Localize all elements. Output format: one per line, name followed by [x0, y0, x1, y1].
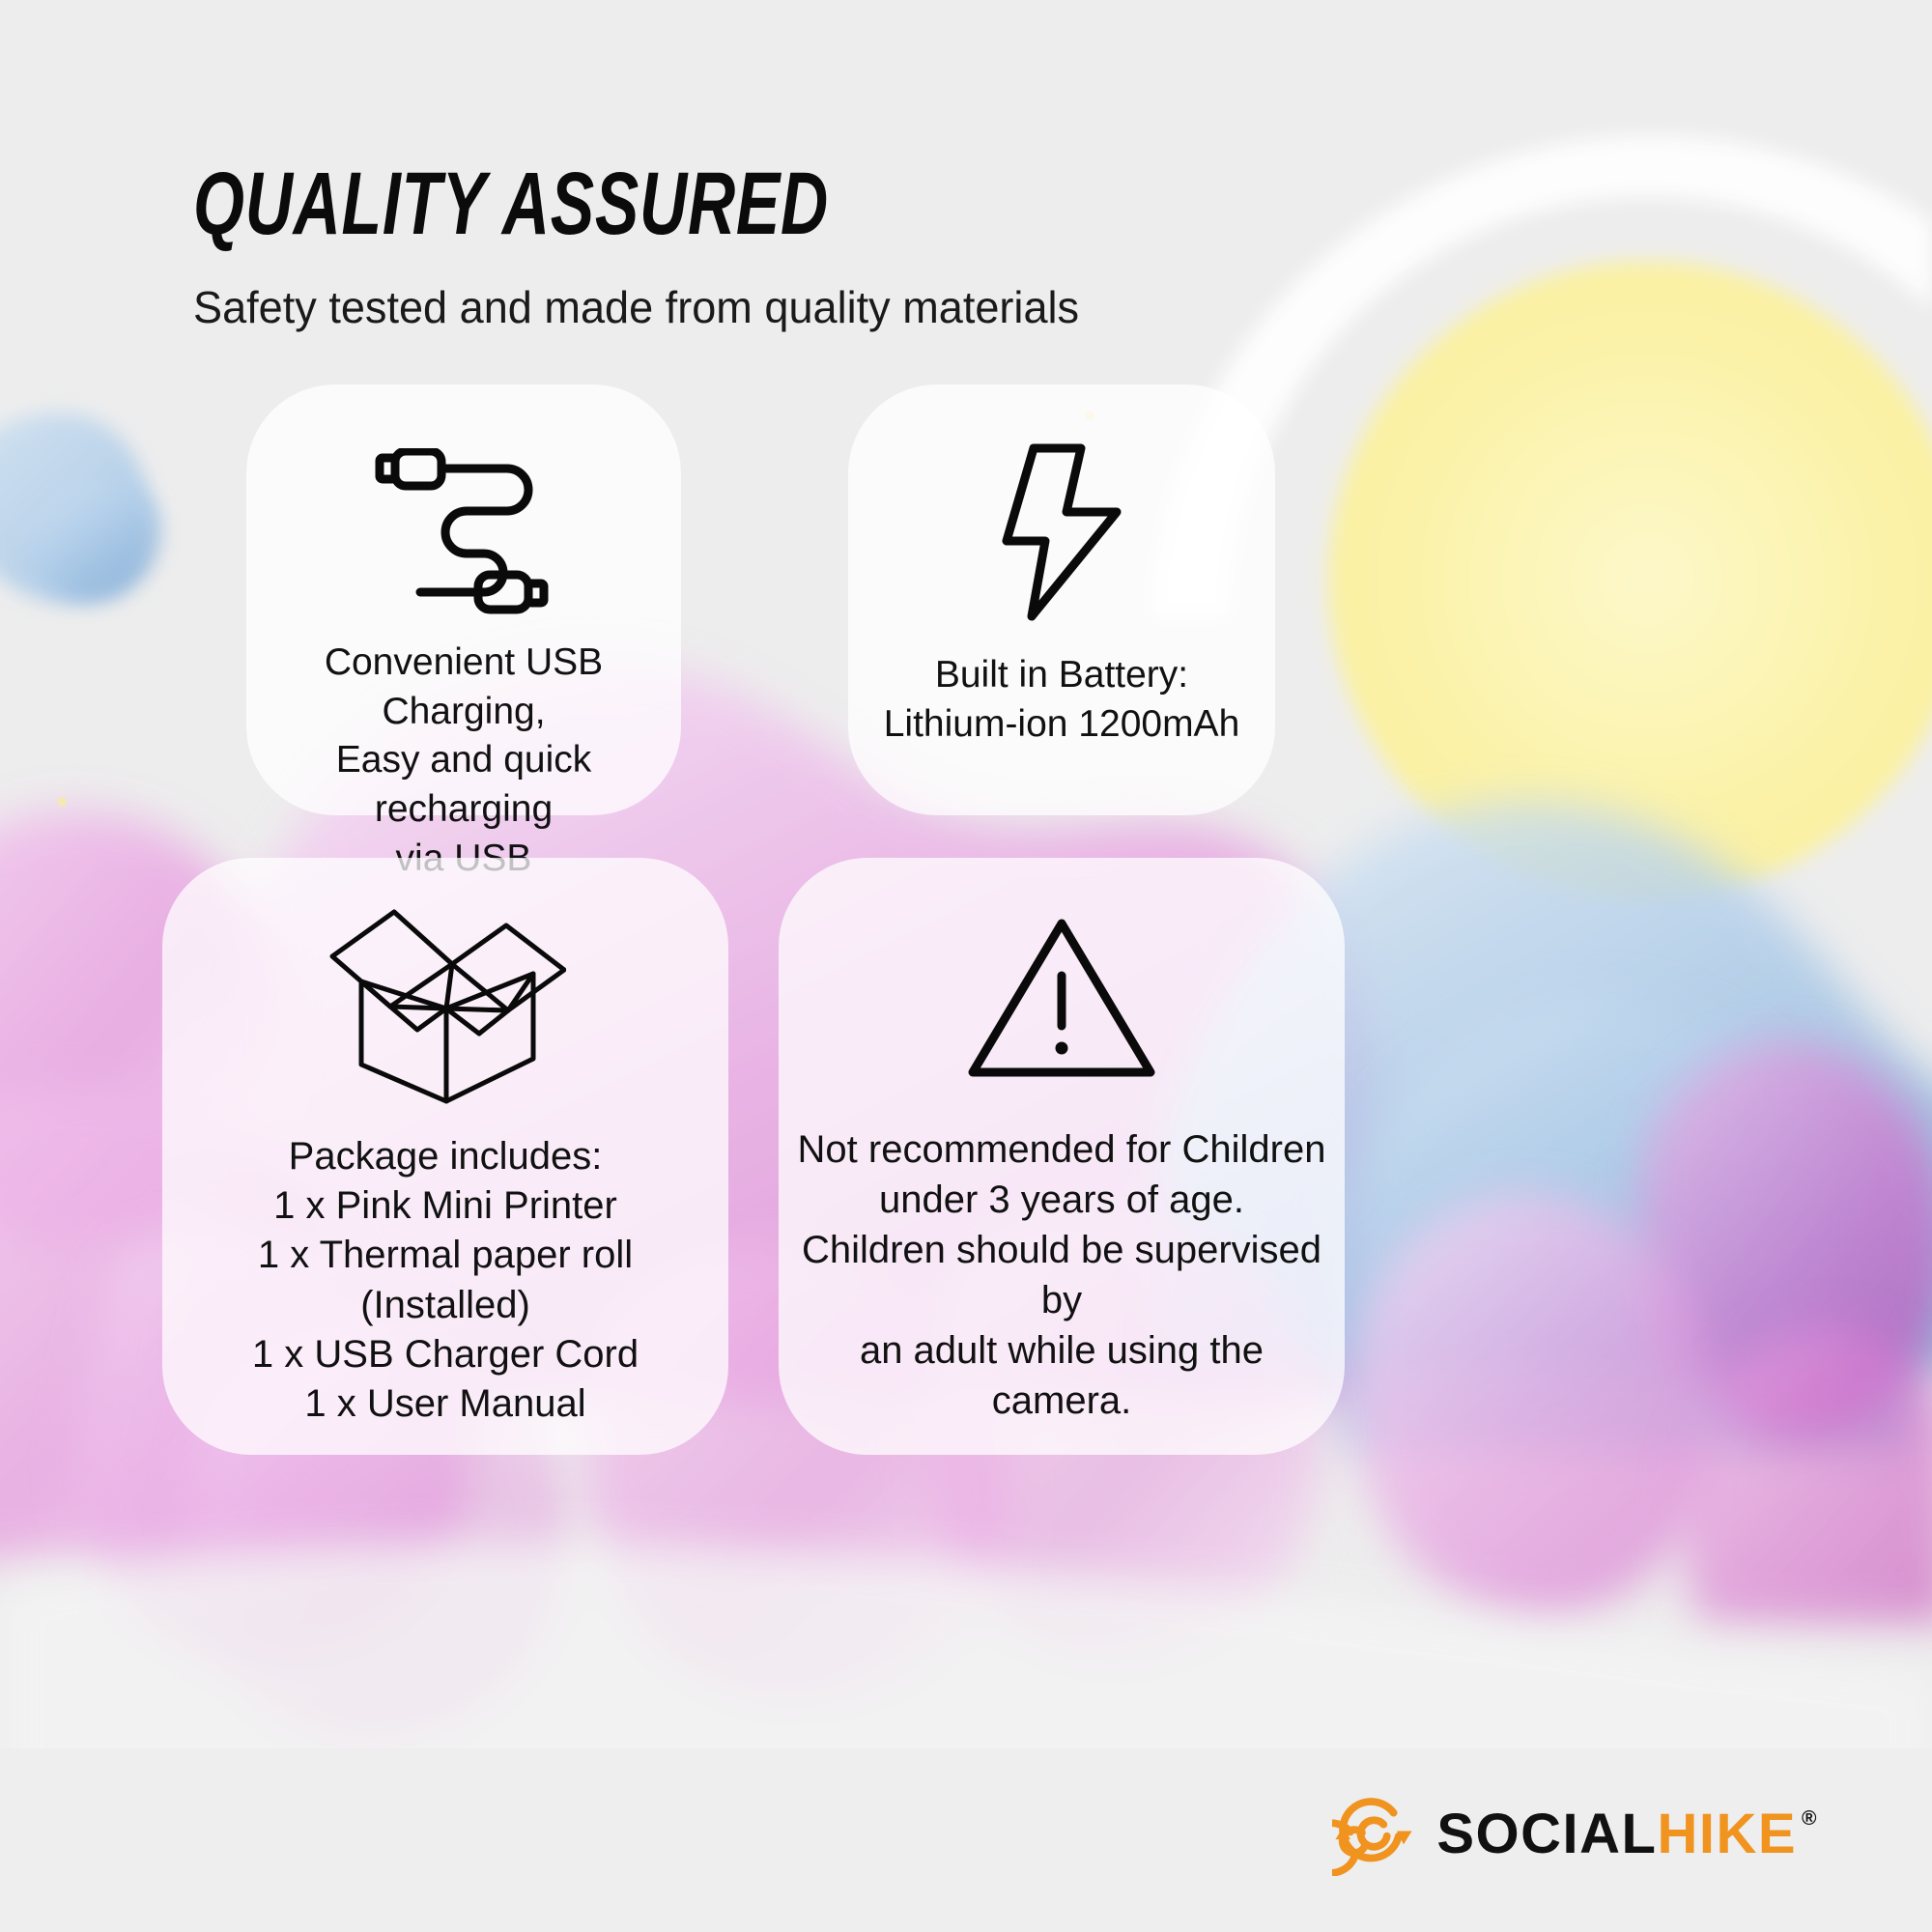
usb-cable-icon — [362, 448, 565, 617]
warning-triangle-icon — [965, 912, 1158, 1086]
feature-card-safety-warning: Not recommended for Children under 3 yea… — [779, 858, 1345, 1455]
lightning-bolt-icon — [989, 440, 1134, 624]
brand-logo-hike: HIKE — [1657, 1806, 1797, 1862]
open-box-icon — [325, 904, 566, 1107]
feature-card-package-text: Package includes: 1 x Pink Mini Printer … — [162, 1132, 728, 1429]
page-title: QUALITY ASSURED — [193, 159, 862, 248]
infographic-canvas: QUALITY ASSURED Safety tested and made f… — [0, 0, 1932, 1932]
registered-trademark-symbol: ® — [1802, 1808, 1818, 1829]
socialhike-swirl-icon — [1332, 1793, 1415, 1876]
header-block: QUALITY ASSURED Safety tested and made f… — [193, 159, 1097, 333]
feature-card-package-contents: Package includes: 1 x Pink Mini Printer … — [162, 858, 728, 1455]
feature-card-battery-text: Built in Battery: Lithium-ion 1200mAh — [870, 651, 1254, 749]
feature-card-usb-text: Convenient USB Charging, Easy and quick … — [246, 639, 681, 883]
brand-logo: SOCIAL HIKE ® — [1332, 1793, 1818, 1876]
feature-card-warning-text: Not recommended for Children under 3 yea… — [779, 1124, 1345, 1426]
feature-card-battery: Built in Battery: Lithium-ion 1200mAh — [848, 384, 1275, 815]
page-subtitle: Safety tested and made from quality mate… — [193, 248, 1079, 333]
feature-card-usb-charging: Convenient USB Charging, Easy and quick … — [246, 384, 681, 815]
brand-logo-wordmark: SOCIAL HIKE ® — [1436, 1806, 1818, 1862]
brand-logo-social: SOCIAL — [1436, 1806, 1657, 1862]
